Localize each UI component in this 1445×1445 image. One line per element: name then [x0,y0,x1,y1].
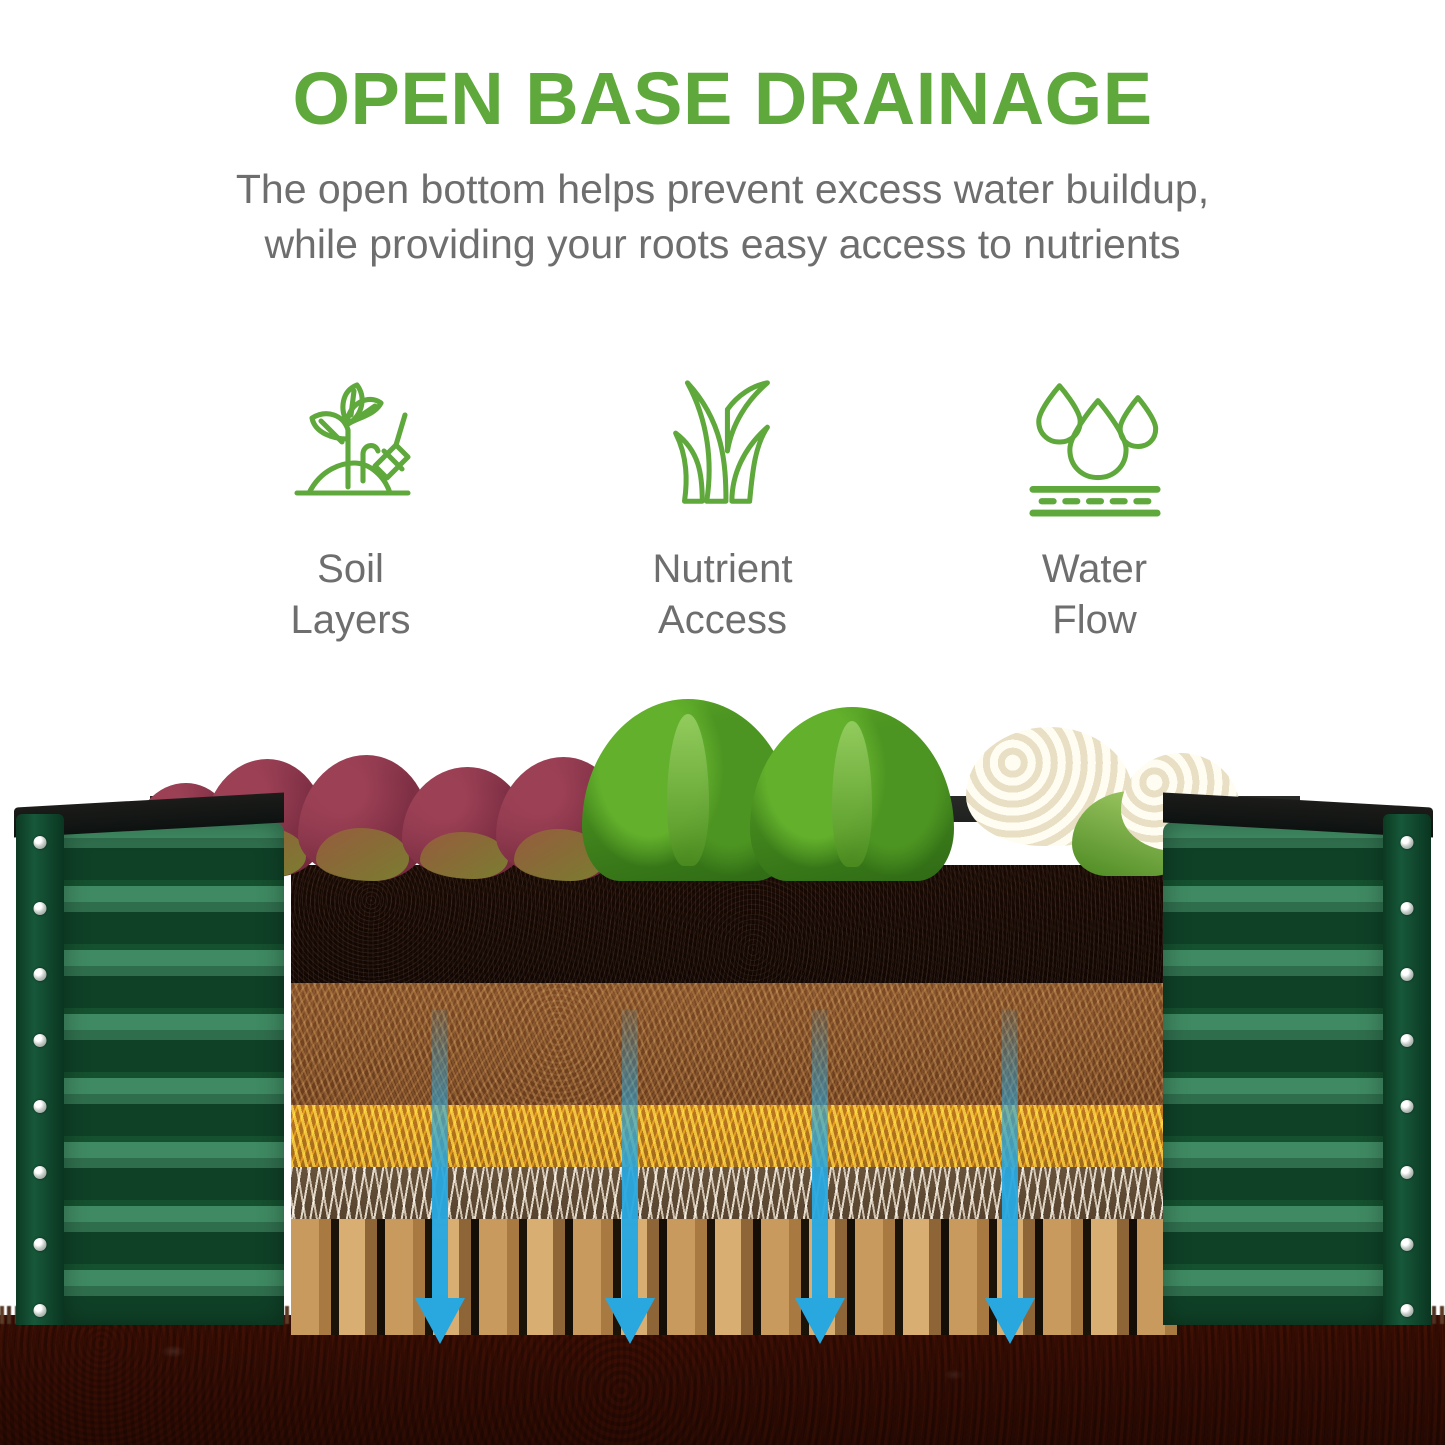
header: OPEN BASE DRAINAGE The open bottom helps… [0,0,1445,273]
subtitle-line-1: The open bottom helps prevent excess wat… [118,162,1328,217]
grass-blades-icon [649,360,797,530]
screw-icon [1401,1238,1414,1251]
page-title: OPEN BASE DRAINAGE [0,0,1445,136]
feature-row: Soil Layers Nutrient Access [0,360,1445,646]
arrow-head [795,1298,845,1344]
screw-icon [34,1238,47,1251]
screw-icon [34,1166,47,1179]
screw-icon [1401,968,1414,981]
feature-water-flow: Water Flow [909,360,1281,646]
corner-post-left [16,814,64,1325]
arrow-head [605,1298,655,1344]
corner-post-right [1383,814,1431,1325]
screw-icon [1401,1304,1414,1317]
feature-nutrient-access-label: Nutrient Access [652,544,792,646]
screw-icon [1401,1034,1414,1047]
water-flow-arrow [425,1010,455,1300]
planter-panel-left [14,800,284,1325]
water-flow-arrow [995,1010,1025,1300]
plant-with-trowel-icon [276,360,426,530]
plant-romaine-lettuce [750,707,954,881]
screw-icon [34,836,47,849]
arrow-head [415,1298,465,1344]
water-flow-arrow [805,1010,835,1300]
screw-icon [1401,902,1414,915]
page-subtitle: The open bottom helps prevent excess wat… [118,136,1328,273]
screw-icon [34,1034,47,1047]
screw-icon [1401,1166,1414,1179]
screw-icon [1401,836,1414,849]
screw-icon [34,902,47,915]
corrugated-metal-ribs [1163,822,1385,1325]
screw-icon [34,1304,47,1317]
arrow-shaft [1002,1010,1018,1300]
product-photo-raised-garden-bed-cutaway [0,660,1445,1445]
subtitle-line-2: while providing your roots easy access t… [118,217,1328,272]
arrow-head [985,1298,1035,1344]
feature-soil-layers-label: Soil Layers [290,544,410,646]
arrow-shaft [812,1010,828,1300]
feature-water-flow-label: Water Flow [1042,544,1147,646]
feature-soil-layers: Soil Layers [165,360,537,646]
screw-icon [1401,1100,1414,1113]
arrow-shaft [432,1010,448,1300]
plant-row [130,670,1240,885]
arrow-shaft [622,1010,638,1300]
planter-panel-right [1163,800,1433,1325]
feature-nutrient-access: Nutrient Access [537,360,909,646]
water-flow-arrow [615,1010,645,1300]
screw-icon [34,968,47,981]
water-droplets-over-soil-layers-icon [1021,360,1169,530]
corrugated-metal-ribs [62,822,284,1325]
screw-icon [34,1100,47,1113]
